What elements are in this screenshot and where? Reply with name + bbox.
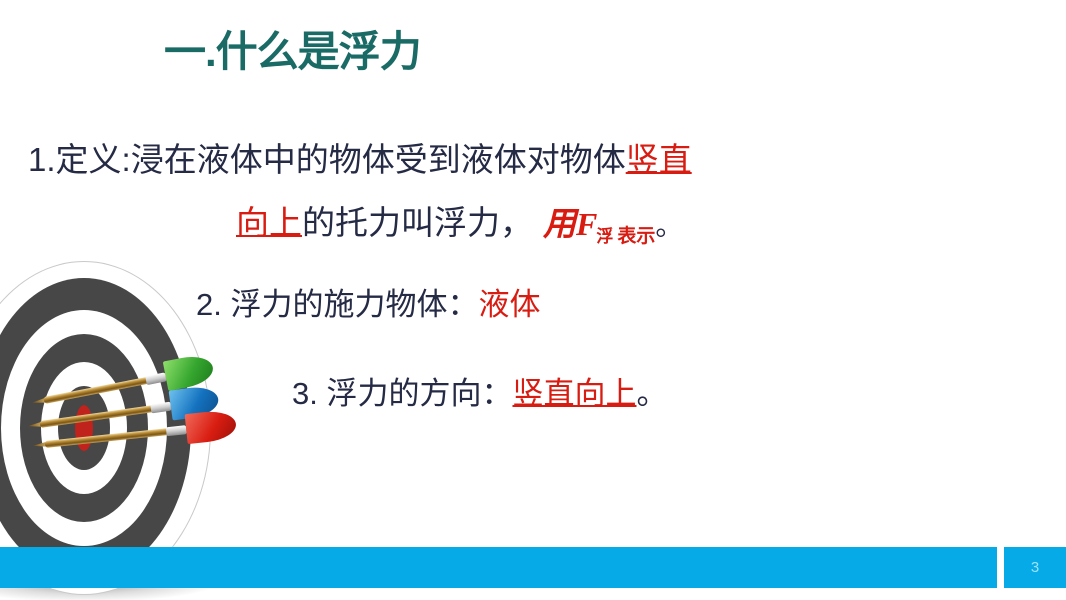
dart-blue-band xyxy=(150,402,171,414)
line2-body: 的托力叫浮力， xyxy=(302,204,533,241)
line1-label: 定义 xyxy=(56,141,122,178)
formula-symbol-F: F xyxy=(576,206,597,242)
formula-prefix: 用 xyxy=(543,205,576,242)
line4-highlight: 竖直向上 xyxy=(512,376,636,411)
line4-body: 浮力的方向： xyxy=(326,376,512,411)
line3-body: 浮力的施力物体： xyxy=(230,287,478,322)
definition-line-3: 2. 浮力的施力物体：液体 xyxy=(196,286,540,323)
definition-line-4: 3. 浮力的方向：竖直向上。 xyxy=(292,375,667,412)
definition-line-2: 向上的托力叫浮力，用F浮表示。 xyxy=(236,203,683,243)
line2-highlight: 向上 xyxy=(236,204,302,241)
line4-period: 。 xyxy=(636,376,667,411)
dart-red-fletching xyxy=(185,409,238,444)
dart-green-band xyxy=(145,372,166,385)
page-number-badge: 3 xyxy=(1004,547,1066,588)
line2-period: 。 xyxy=(655,210,683,241)
line3-number: 2. xyxy=(196,287,222,322)
page-number: 3 xyxy=(1031,559,1039,576)
line4-number: 3. xyxy=(292,376,318,411)
footer-bar xyxy=(0,547,997,588)
buoyancy-force-formula: 用F浮表示。 xyxy=(543,204,683,244)
line1-number: 1. xyxy=(28,141,56,178)
dart-red-band xyxy=(166,425,187,436)
line1-colon: : xyxy=(122,141,131,178)
formula-subscript: 浮 xyxy=(596,227,613,246)
line3-highlight: 液体 xyxy=(478,287,540,322)
page-title: 一.什么是浮力 xyxy=(164,28,421,76)
line1-highlight: 竖直 xyxy=(626,141,692,178)
line1-body: 浸在液体中的物体受到液体对物体 xyxy=(131,141,626,178)
formula-suffix: 表示 xyxy=(617,226,655,247)
slide-canvas: 一.什么是浮力 1.定义:浸在液体中的物体受到液体对物体竖直 向上的托力叫浮力，… xyxy=(0,0,1066,600)
definition-line-1: 1.定义:浸在液体中的物体受到液体对物体竖直 xyxy=(28,140,692,180)
